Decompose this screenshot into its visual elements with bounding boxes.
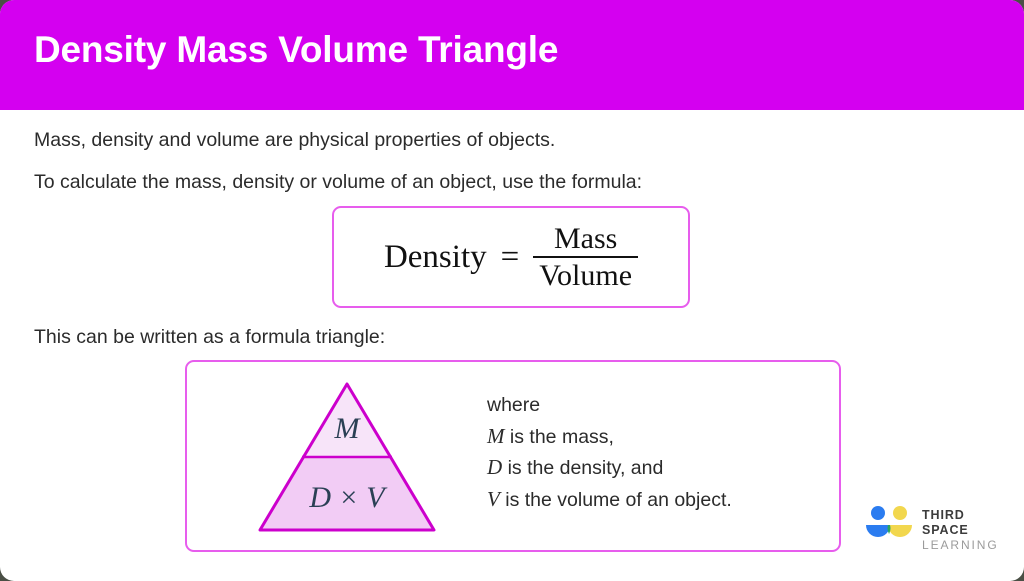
- legend-symbol-d: D: [487, 455, 502, 479]
- legend-line-density: D is the density, and: [487, 452, 732, 484]
- fraction-denominator: Volume: [533, 258, 638, 291]
- logo-body-blue: [866, 525, 890, 537]
- paragraph-triangle-lead: This can be written as a formula triangl…: [34, 326, 385, 349]
- legend-intro: where: [487, 390, 732, 421]
- third-space-learning-logo-icon: [864, 505, 918, 539]
- formula-triangle-panel: M D × V where M is the mass, D is the de…: [185, 360, 841, 552]
- legend-text-d: is the density, and: [508, 457, 664, 479]
- triangle-label-mass: M: [334, 412, 362, 445]
- logo-text-primary: THIRD SPACE: [922, 508, 1004, 538]
- logo-head-yellow: [893, 506, 907, 520]
- logo-overlap-green: [888, 525, 891, 534]
- paragraph-intro: Mass, density and volume are physical pr…: [34, 129, 555, 152]
- paragraph-formula-lead: To calculate the mass, density or volume…: [34, 171, 642, 194]
- page-title: Density Mass Volume Triangle: [34, 29, 558, 71]
- triangle-label-density-volume: D × V: [308, 481, 388, 514]
- formula-equation: Density = Mass Volume: [334, 208, 688, 306]
- legend-text-m: is the mass,: [510, 426, 614, 448]
- formula-box: Density = Mass Volume: [332, 206, 690, 308]
- formula-left-term: Density: [384, 241, 487, 274]
- legend-symbol-m: M: [487, 424, 505, 448]
- worksheet-card: Density Mass Volume Triangle Mass, densi…: [0, 0, 1024, 581]
- formula-triangle-diagram: M D × V: [247, 372, 447, 542]
- fraction-numerator: Mass: [548, 224, 623, 256]
- page-header: Density Mass Volume Triangle: [0, 0, 1024, 110]
- logo-wordmark: THIRD SPACE LEARNING: [922, 508, 1004, 553]
- legend-symbol-v: V: [487, 487, 500, 511]
- legend-line-volume: V is the volume of an object.: [487, 484, 732, 516]
- formula-fraction: Mass Volume: [533, 224, 638, 291]
- logo-body-yellow: [888, 525, 912, 537]
- triangle-legend: where M is the mass, D is the density, a…: [487, 390, 732, 515]
- formula-equals-sign: =: [497, 241, 524, 274]
- legend-line-mass: M is the mass,: [487, 421, 732, 453]
- logo-text-secondary: LEARNING: [922, 538, 1004, 553]
- brand-logo: THIRD SPACE LEARNING: [864, 503, 1004, 545]
- legend-text-v: is the volume of an object.: [505, 489, 732, 511]
- logo-head-blue: [871, 506, 885, 520]
